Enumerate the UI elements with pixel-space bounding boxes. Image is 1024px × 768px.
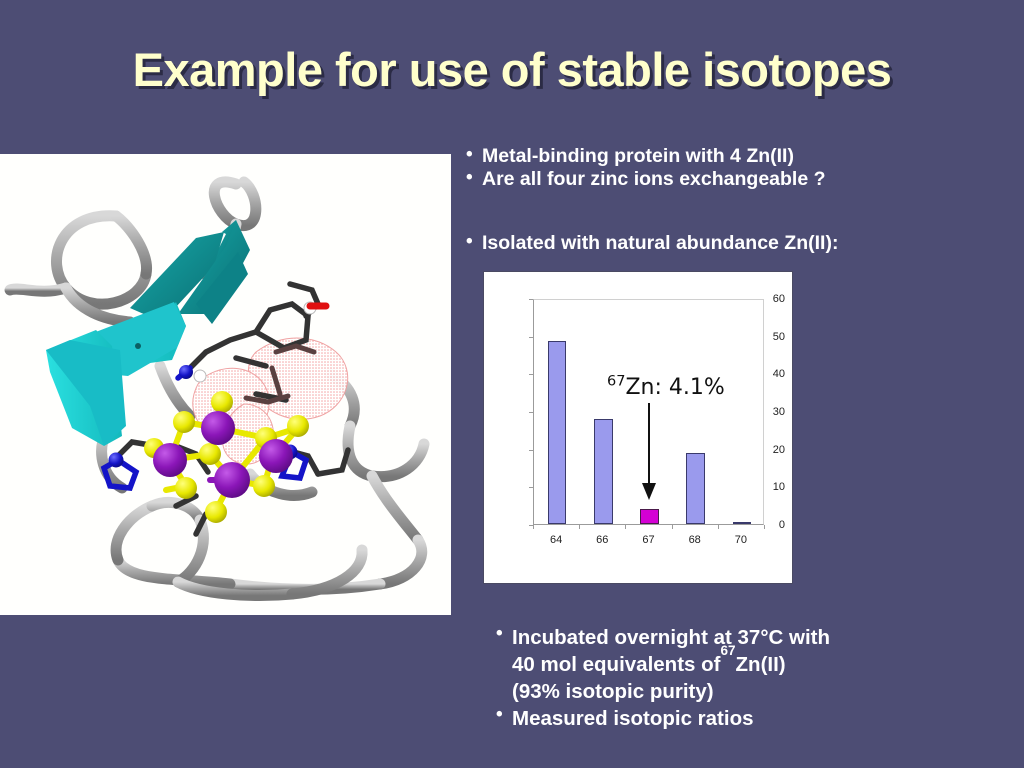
chart-bar	[686, 453, 704, 524]
x-axis-tick-mark	[672, 525, 673, 529]
chart-bar	[640, 509, 658, 524]
y-axis-tick-label: 0	[751, 519, 785, 531]
bullet-list-isolated: • Isolated with natural abundance Zn(II)…	[466, 232, 838, 255]
x-axis-tick-label: 67	[642, 534, 654, 546]
y-axis-tick-label: 50	[751, 331, 785, 343]
chart-bar	[548, 341, 566, 524]
y-axis-tick-mark	[529, 337, 533, 338]
chart-bar	[594, 419, 612, 524]
y-axis-tick-label: 20	[751, 444, 785, 456]
bullet-text: Metal-binding protein with 4 Zn(II)	[482, 145, 794, 168]
bullet-icon: •	[466, 232, 482, 252]
y-axis-tick-label: 60	[751, 293, 785, 305]
list-item: • Are all four zinc ions exchangeable ?	[466, 168, 826, 191]
y-axis-tick-label: 10	[751, 481, 785, 493]
x-axis-tick-label: 68	[689, 534, 701, 546]
y-axis-tick-mark	[529, 412, 533, 413]
x-axis-tick-mark	[718, 525, 719, 529]
y-axis-tick-label: 40	[751, 368, 785, 380]
chart-annotation: 67Zn: 4.1%	[607, 375, 725, 400]
list-item: • Incubated overnight at 37°C with	[496, 624, 830, 651]
annotation-arrow-icon	[639, 403, 659, 503]
isotope-abundance-chart: 01020304050606466676870 67Zn: 4.1%	[483, 271, 793, 584]
bullet-text: (93% isotopic purity)	[512, 678, 714, 705]
x-axis-tick-mark	[579, 525, 580, 529]
bullet-icon: •	[466, 145, 482, 165]
x-axis-tick-label: 66	[596, 534, 608, 546]
y-axis-tick-mark	[529, 487, 533, 488]
x-axis-tick-label: 70	[735, 534, 747, 546]
y-axis-tick-mark	[529, 374, 533, 375]
bullet-text: Isolated with natural abundance Zn(II):	[482, 232, 838, 255]
x-axis-tick-mark	[533, 525, 534, 529]
annotation-text: Zn: 4.1%	[625, 375, 724, 400]
protein-ribbon-diagram	[0, 154, 451, 615]
x-axis-tick-label: 64	[550, 534, 562, 546]
bullet-text-pre: 40 mol equivalents of	[512, 651, 720, 678]
y-axis-tick-mark	[529, 450, 533, 451]
protein-structure-image	[0, 154, 451, 615]
x-axis-tick-mark	[764, 525, 765, 529]
bullet-text-post: Zn(II)	[736, 651, 786, 678]
chart-bar	[733, 522, 751, 524]
list-item: • Measured isotopic ratios	[496, 705, 830, 732]
y-axis-tick-mark	[529, 299, 533, 300]
y-axis-tick-label: 30	[751, 406, 785, 418]
bullet-text: Measured isotopic ratios	[512, 705, 754, 732]
list-item: • Metal-binding protein with 4 Zn(II)	[466, 145, 826, 168]
list-item-continuation: 40 mol equivalents of 67Zn(II)	[496, 651, 830, 678]
bullet-list-bottom: • Incubated overnight at 37°C with 40 mo…	[496, 624, 830, 732]
bullet-icon: •	[466, 168, 482, 188]
bullet-text: Are all four zinc ions exchangeable ?	[482, 168, 826, 191]
annotation-superscript: 67	[607, 374, 625, 390]
list-item-continuation: (93% isotopic purity)	[496, 678, 830, 705]
x-axis-tick-mark	[625, 525, 626, 529]
page-title: Example for use of stable isotopes	[0, 42, 1024, 97]
bullet-icon: •	[496, 624, 512, 644]
bullet-icon: •	[496, 705, 512, 725]
list-item: • Isolated with natural abundance Zn(II)…	[466, 232, 838, 255]
bullet-text: Incubated overnight at 37°C with	[512, 624, 830, 651]
bullet-list-top: • Metal-binding protein with 4 Zn(II) • …	[466, 145, 826, 190]
